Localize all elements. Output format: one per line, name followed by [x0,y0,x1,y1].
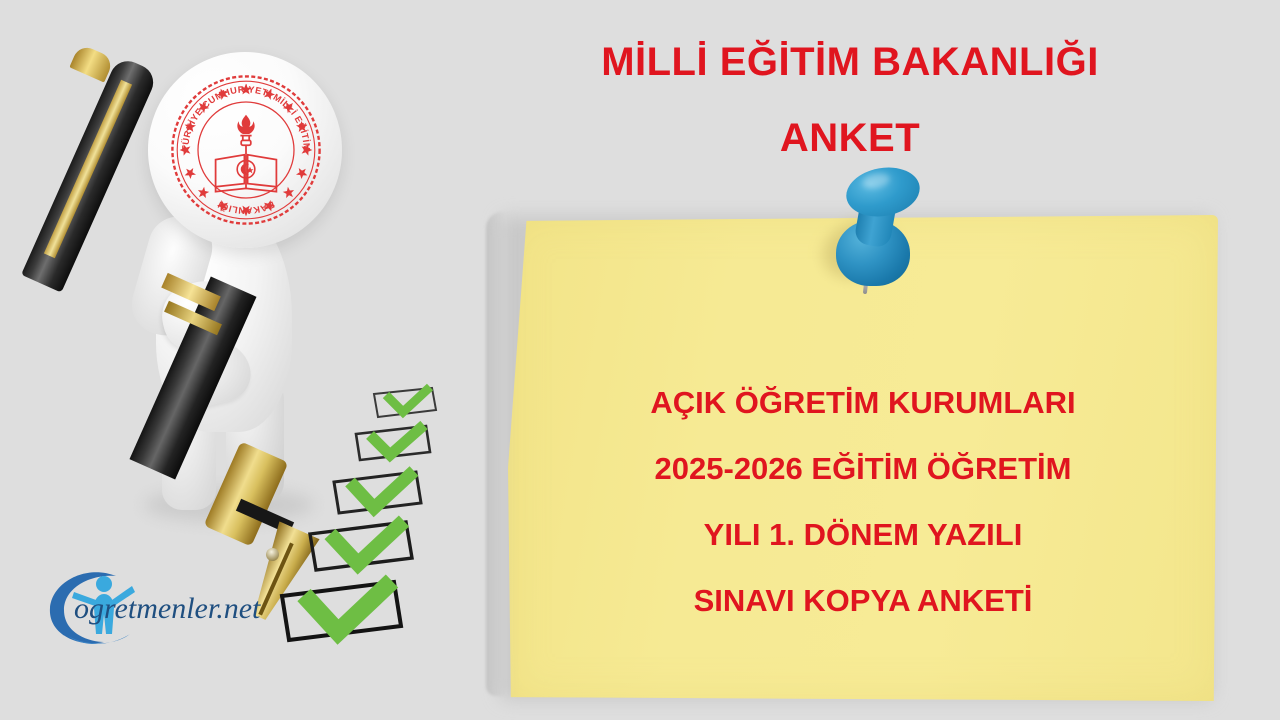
sticky-note-text: AÇIK ÖĞRETİM KURUMLARI 2025-2026 EĞİTİM … [510,370,1216,634]
checkbox-4[interactable] [306,520,418,576]
page-title-line-1: MİLLİ EĞİTİM BAKANLIĞI [470,24,1230,100]
note-line-2: 2025-2026 EĞİTİM ÖĞRETİM [510,436,1216,502]
pen-grip-section [204,441,289,546]
checkbox-3[interactable] [330,470,426,518]
note-line-1: AÇIK ÖĞRETİM KURUMLARI [510,370,1216,436]
list-item[interactable] [352,424,434,464]
list-item[interactable] [306,520,418,576]
pushpin-cap [842,162,923,222]
watermark-logo[interactable]: ogretmenler.net [38,556,278,652]
note-line-4: SINAVI KOPYA ANKETİ [510,568,1216,634]
checkbox-5[interactable] [278,580,408,648]
note-line-3: YILI 1. DÖNEM YAZILI [510,502,1216,568]
list-item[interactable] [370,386,440,420]
checklist [292,386,482,656]
checkbox-2[interactable] [352,424,434,464]
list-item[interactable] [278,580,408,648]
list-item[interactable] [330,470,426,518]
pushpin-icon[interactable] [820,164,940,304]
page-title: MİLLİ EĞİTİM BAKANLIĞI ANKET [470,24,1230,176]
poster-canvas: MİLLİ EĞİTİM BAKANLIĞI ANKET [0,0,1280,720]
watermark-text: ogretmenler.net [74,592,261,625]
checkbox-1[interactable] [370,386,440,420]
